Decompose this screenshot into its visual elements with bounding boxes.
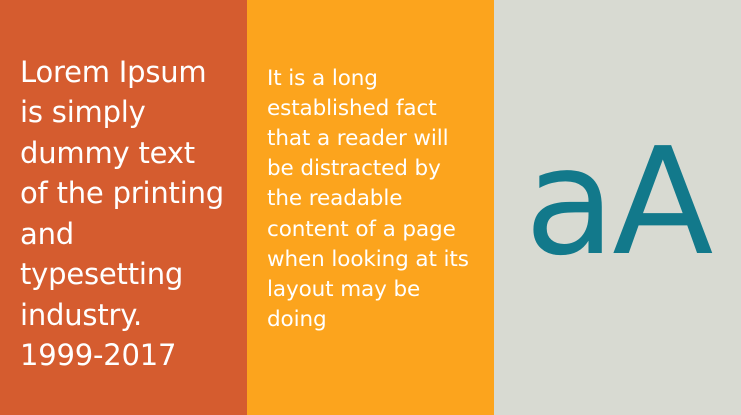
headline-text: Lorem Ipsum is simply dummy text of the … [0, 52, 247, 376]
typeface-sample-glyphs: aA [525, 128, 711, 276]
slide-canvas: Lorem Ipsum is simply dummy text of the … [0, 0, 741, 415]
body-copy-text: It is a long established fact that a rea… [247, 64, 494, 336]
typeface-sample-panel: aA [494, 0, 741, 415]
headline-panel: Lorem Ipsum is simply dummy text of the … [0, 0, 247, 415]
body-copy-panel: It is a long established fact that a rea… [247, 0, 494, 415]
